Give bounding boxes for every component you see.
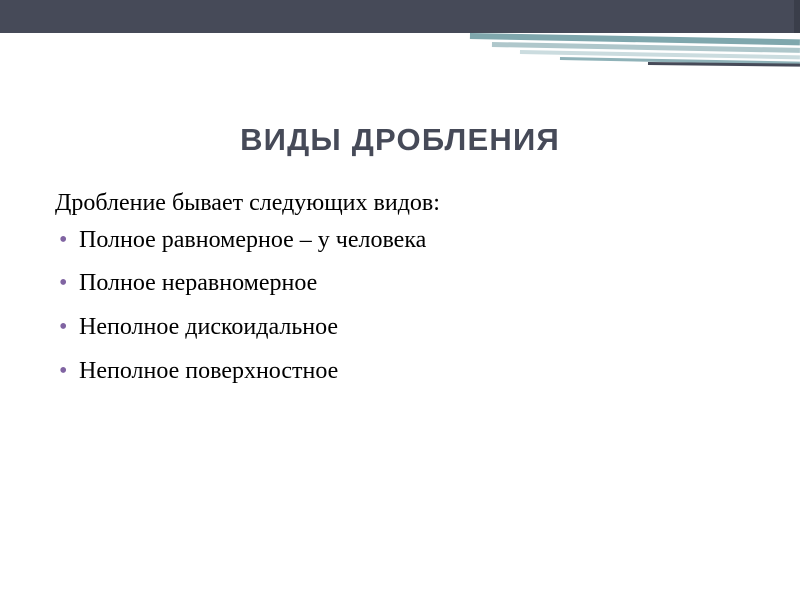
bullet-list: • Полное равномерное – у человека • Полн…	[55, 225, 755, 387]
bullet-dot-icon: •	[59, 356, 67, 387]
slide: ВИДЫ ДРОБЛЕНИЯ Дробление бывает следующи…	[0, 0, 800, 600]
slide-body: Дробление бывает следующих видов: • Полн…	[55, 188, 755, 400]
bullet-dot-icon: •	[59, 312, 67, 343]
header-band	[0, 0, 800, 33]
list-item-label: Неполное дискоидальное	[79, 314, 338, 340]
lead-text: Дробление бывает следующих видов:	[55, 188, 755, 219]
list-item-label: Полное неравномерное	[79, 270, 317, 296]
list-item-label: Полное равномерное – у человека	[79, 227, 426, 253]
decorative-stripes	[0, 33, 800, 71]
bullet-dot-icon: •	[59, 268, 67, 299]
header-band-right-edge	[794, 0, 800, 33]
list-item: • Полное равномерное – у человека	[55, 225, 755, 256]
list-item-label: Неполное поверхностное	[79, 358, 338, 384]
list-item: • Полное неравномерное	[55, 268, 755, 299]
bullet-dot-icon: •	[59, 225, 67, 256]
list-item: • Неполное поверхностное	[55, 356, 755, 387]
slide-title: ВИДЫ ДРОБЛЕНИЯ	[0, 122, 800, 158]
list-item: • Неполное дискоидальное	[55, 312, 755, 343]
stripe-5	[648, 62, 800, 67]
